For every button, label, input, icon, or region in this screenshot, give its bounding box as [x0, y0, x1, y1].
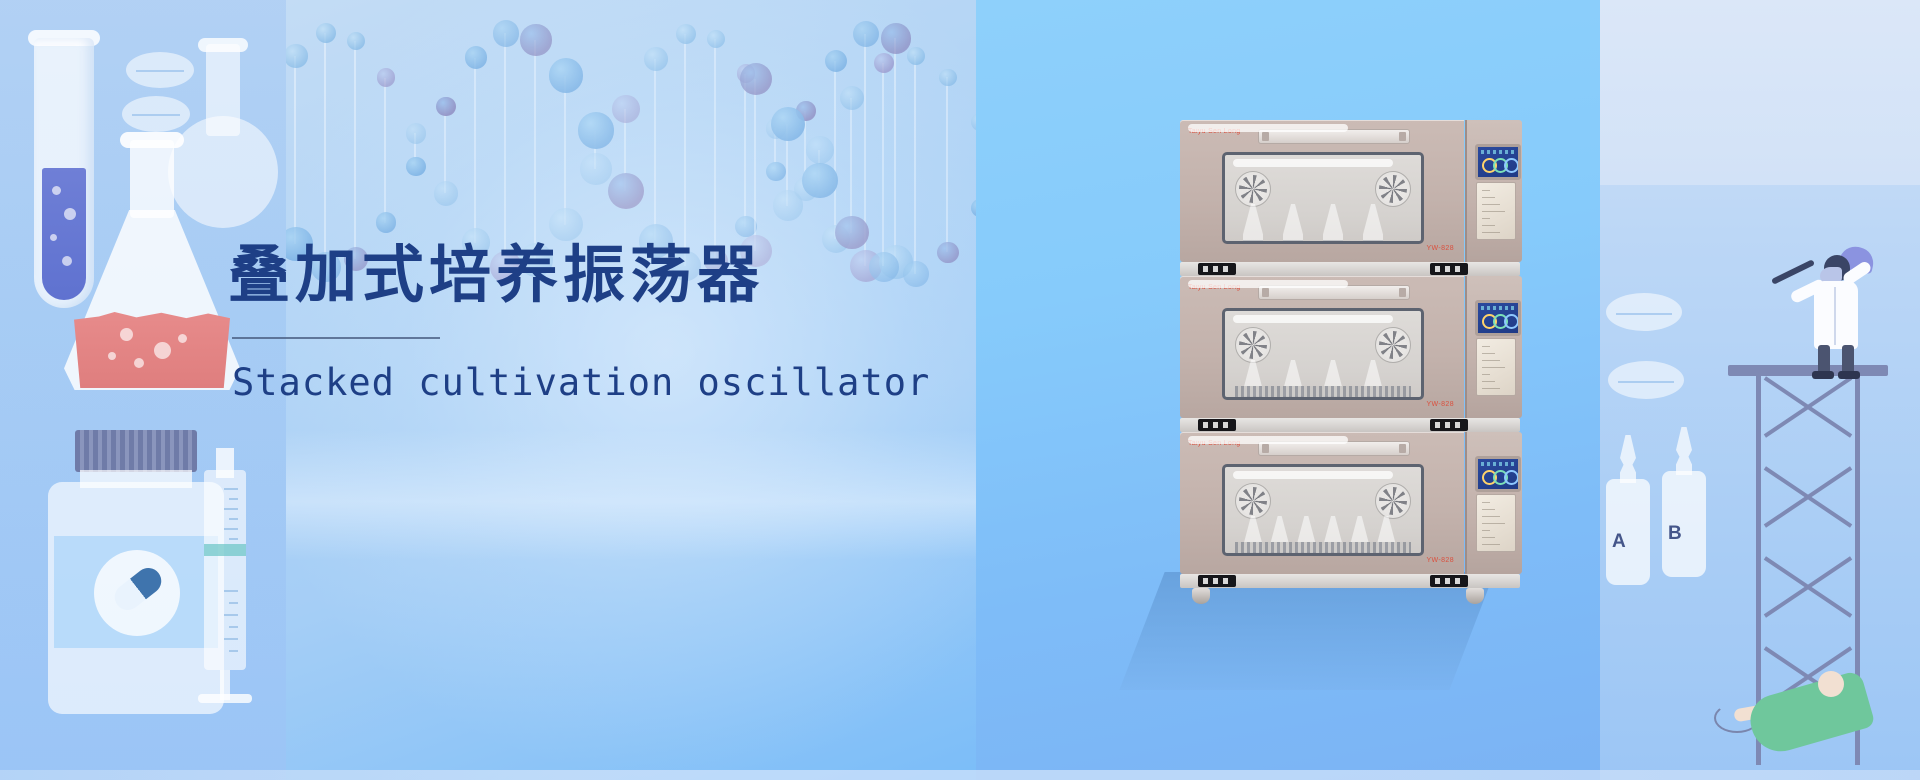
shaker-tray	[1235, 542, 1411, 553]
syringe-band	[204, 544, 246, 556]
shaker-tier-bottom: Taiyu Sen LongYW-828	[1180, 432, 1520, 574]
model-number-text: YW-828	[1426, 557, 1454, 564]
culture-flask	[1363, 204, 1383, 241]
control-column	[1465, 432, 1522, 574]
control-column	[1465, 120, 1522, 262]
viewing-window	[1222, 308, 1424, 400]
culture-flask	[1283, 204, 1303, 241]
side-door-panel	[1476, 494, 1516, 552]
info-bubble-3-line	[1616, 313, 1672, 315]
bottom-edge-strip	[0, 770, 1920, 780]
flask-row	[1235, 511, 1411, 553]
equipment-foot	[1192, 588, 1210, 604]
control-column	[1465, 276, 1522, 418]
title-divider	[232, 337, 440, 339]
product-hero-banner: 叠加式培养振荡器 Stacked cultivation oscillator …	[0, 0, 1920, 780]
side-door-panel	[1476, 338, 1516, 396]
culture-flask	[1323, 204, 1343, 241]
shaker-tier-middle: Taiyu Sen LongYW-828	[1180, 276, 1520, 418]
flask-row	[1235, 199, 1411, 241]
control-dial[interactable]	[1504, 158, 1519, 173]
shaker-chassis: Taiyu Sen LongYW-828	[1180, 432, 1464, 574]
ampoule-a-label: A	[1612, 531, 1626, 553]
bottle-cap	[75, 430, 197, 472]
model-number-text: YW-828	[1426, 245, 1454, 252]
vent-grille	[1430, 419, 1468, 431]
vent-grille	[1198, 419, 1236, 431]
erlenmeyer-flask	[64, 140, 240, 390]
control-dial[interactable]	[1504, 470, 1519, 485]
vent-grille	[1430, 263, 1468, 275]
side-door-panel	[1476, 182, 1516, 240]
syringe	[196, 448, 254, 712]
shaker-tray	[1235, 386, 1411, 397]
equipment-foot	[1466, 588, 1484, 604]
shaker-tier-top: Taiyu Sen LongYW-828	[1180, 120, 1520, 262]
vent-grille	[1430, 575, 1468, 587]
medic-figure	[1730, 655, 1910, 780]
control-screen[interactable]	[1475, 300, 1521, 336]
info-bubble-4	[1608, 361, 1684, 399]
viewing-window	[1222, 152, 1424, 244]
info-bubble-4-line	[1618, 381, 1674, 383]
product-shadow	[1119, 572, 1494, 690]
telescope-icon	[1771, 259, 1815, 285]
lab-coat	[1814, 281, 1858, 349]
model-number-text: YW-828	[1426, 401, 1454, 408]
green-scrubs	[1744, 670, 1875, 759]
vent-grille	[1198, 575, 1236, 587]
banner-title-block: 叠加式培养振荡器 Stacked cultivation oscillator	[228, 240, 930, 404]
ampoule-b-label: B	[1668, 523, 1682, 545]
shaker-chassis: Taiyu Sen LongYW-828	[1180, 120, 1464, 262]
page-subtitle-en: Stacked cultivation oscillator	[232, 361, 930, 404]
control-dial[interactable]	[1504, 314, 1519, 329]
control-screen[interactable]	[1475, 144, 1521, 180]
scientist-figure	[1776, 247, 1888, 375]
scientist-illustration: A B	[1600, 185, 1920, 780]
erlenmeyer-liquid	[74, 312, 230, 388]
scientist-panel-top-band	[1600, 0, 1920, 185]
info-bubble-3	[1606, 293, 1682, 331]
shaker-chassis: Taiyu Sen LongYW-828	[1180, 276, 1464, 418]
page-title-cn: 叠加式培养振荡器	[228, 240, 930, 309]
control-screen[interactable]	[1475, 456, 1521, 492]
vent-grille	[1198, 263, 1236, 275]
viewing-window	[1222, 464, 1424, 556]
flask-row	[1235, 355, 1411, 397]
culture-flask	[1243, 204, 1263, 241]
stacked-incubator-shaker: Taiyu Sen LongYW-828Taiyu Sen LongYW-828…	[1180, 120, 1520, 580]
